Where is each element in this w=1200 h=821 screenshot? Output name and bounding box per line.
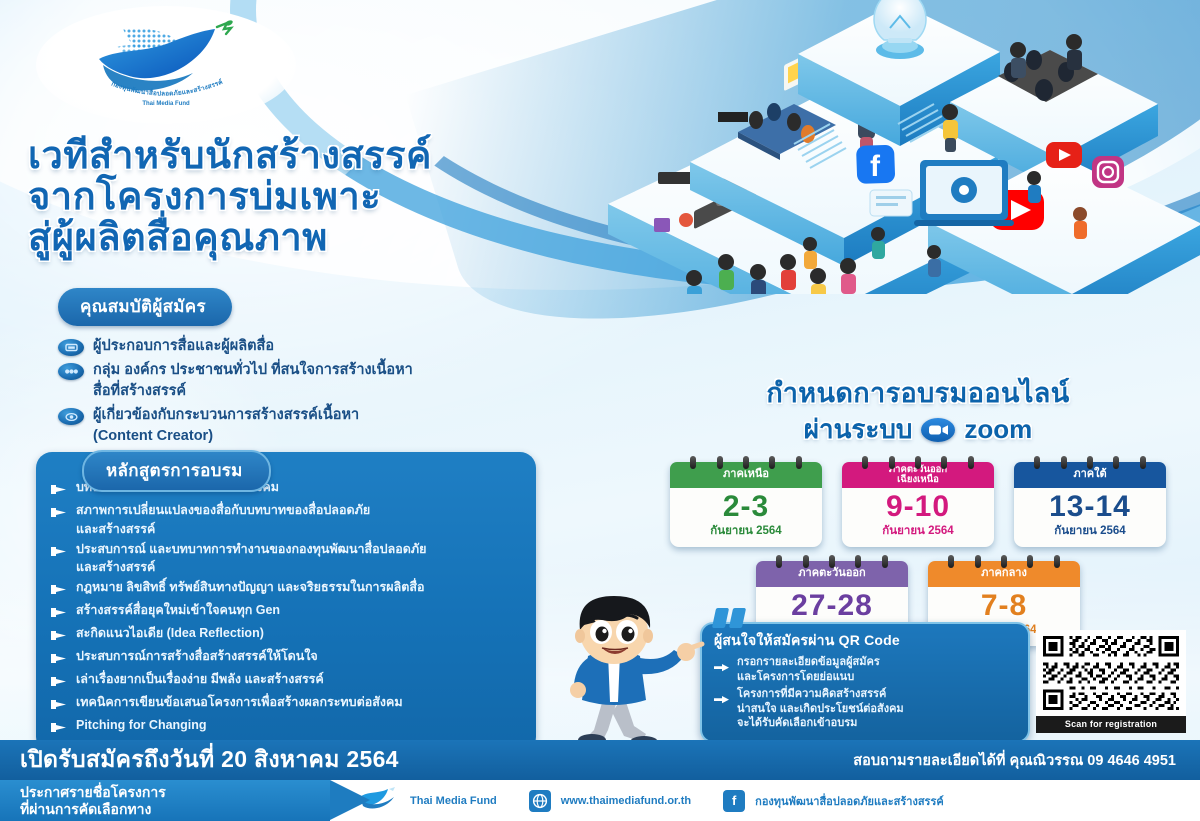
curriculum-text: เล่าเรื่องยากเป็นเรื่องง่าย มีพลัง และสร… — [76, 670, 324, 689]
list-item: สร้างสรรค์สื่อยุคใหม่เข้าใจคนทุก Gen — [50, 601, 522, 623]
creator-badge-icon — [58, 408, 84, 425]
arrow-bullet-icon — [50, 720, 67, 738]
arrow-bullet-icon — [50, 605, 67, 623]
curriculum-text: สะกิดแนวไอเดีย (Idea Reflection) — [76, 624, 264, 643]
list-item: สภาพการเปลี่ยนแปลงของสื่อกับบทบาทของสื่อ… — [50, 501, 522, 539]
page-title: เวทีสำหรับนักสร้างสรรค์ จากโครงการบ่มเพา… — [28, 136, 688, 259]
curriculum-text: สภาพการเปลี่ยนแปลงของสื่อกับบทบาทของสื่อ… — [76, 501, 370, 539]
headline-line-2: จากโครงการบ่มเพาะ — [28, 177, 688, 218]
list-item: สะกิดแนวไอเดีย (Idea Reflection) — [50, 624, 522, 646]
qr-code-block[interactable]: Scan for registration — [1036, 630, 1186, 733]
qr-item-text: กรอกรายละเอียดข้อมูลผู้สมัครและโครงการโด… — [737, 655, 880, 685]
arrow-bullet-icon — [50, 628, 67, 646]
curriculum-text: ประสบการณ์การสร้างสื่อสร้างสรรค์ให้โดนใจ — [76, 647, 318, 666]
zoom-camera-icon — [921, 418, 955, 442]
schedule-subtitle: ผ่านระบบ zoom — [648, 409, 1188, 450]
display-badge-icon — [58, 339, 84, 356]
calendar-rings — [670, 456, 822, 469]
website-link[interactable]: www.thaimediafund.or.th — [561, 795, 691, 807]
curriculum-text: สร้างสรรค์สื่อยุคใหม่เข้าใจคนทุก Gen — [76, 601, 280, 620]
calendar-days: 27-28 — [756, 589, 908, 622]
calendar-body: 9-10 กันยายน 2564 — [842, 488, 994, 547]
deadline-bar: เปิดรับสมัครถึงวันที่ 20 สิงหาคม 2564 สอ… — [0, 740, 1200, 780]
arrow-bullet-icon — [50, 582, 67, 600]
calendar-month: กันยายน 2564 — [670, 522, 822, 540]
qr-code-image[interactable] — [1036, 630, 1186, 716]
announcement-tag: ประกาศรายชื่อโครงการ ที่ผ่านการคัดเลือกท… — [0, 780, 330, 821]
arrow-bullet-icon — [50, 544, 67, 562]
arrow-bullet-icon — [50, 482, 67, 500]
calendar-days: 2-3 — [670, 490, 822, 523]
calendar-body: 13-14 กันยายน 2564 — [1014, 488, 1166, 547]
list-item: กฎหมาย ลิขสิทธิ์ ทรัพย์สินทางปัญญา และจร… — [50, 578, 522, 600]
curriculum-text: กฎหมาย ลิขสิทธิ์ ทรัพย์สินทางปัญญา และจร… — [76, 578, 425, 597]
poster-root: กองทุนพัฒนาสื่อปลอดภัยและสร้างสรรค์ Thai… — [0, 0, 1200, 821]
arrow-bullet-icon — [50, 697, 67, 715]
curriculum-text: ประสบการณ์ และบทบาทการทำงานของกองทุนพัฒน… — [76, 540, 426, 578]
curriculum-panel: บทบาทของสื่อและผลกระทบทางสังคม สภาพการเป… — [36, 452, 536, 753]
headline-line-1: เวทีสำหรับนักสร้างสรรค์ — [28, 136, 688, 177]
calendar-month: กันยายน 2564 — [842, 522, 994, 540]
qualification-text: กลุ่ม องค์กร ประชาชนทั่วไป ที่สนใจการสร้… — [93, 360, 413, 402]
brand-label: Thai Media Fund — [410, 795, 497, 807]
calendar-row-1: ภาคเหนือ 2-3 กันยายน 2564 ภาคตะวันออกเฉี… — [648, 462, 1188, 547]
list-item: เล่าเรื่องยากเป็นเรื่องง่าย มีพลัง และสร… — [50, 670, 522, 692]
announce-line-1: ประกาศรายชื่อโครงการ — [20, 784, 166, 800]
logo-org-english: Thai Media Fund — [142, 101, 190, 107]
qualifications-heading: คุณสมบัติผู้สมัคร — [58, 288, 232, 326]
group-badge-icon — [58, 363, 84, 380]
footer-links: Thai Media Fund www.thaimediafund.or.th … — [356, 785, 944, 816]
list-item: ประสบการณ์การสร้างสื่อสร้างสรรค์ให้โดนใจ — [50, 647, 522, 669]
qr-item-text: โครงการที่มีความคิดสร้างสรรค์ น่าสนใจ แล… — [737, 687, 904, 732]
curriculum-text: เทคนิคการเขียนข้อเสนอโครงการเพื่อสร้างผล… — [76, 693, 403, 712]
calendar-days: 13-14 — [1014, 490, 1166, 523]
qr-callout-box: ผู้สนใจให้สมัครผ่าน QR Code กรอกรายละเอี… — [700, 622, 1030, 743]
curriculum-section: หลักสูตรการอบรม บทบาทของสื่อและผลกระทบทา… — [36, 452, 536, 753]
arrow-bullet-icon — [50, 505, 67, 523]
calendar-rings — [756, 555, 908, 568]
list-item: เทคนิคการเขียนข้อเสนอโครงการเพื่อสร้างผล… — [50, 693, 522, 715]
list-item: กรอกรายละเอียดข้อมูลผู้สมัครและโครงการโด… — [714, 655, 1018, 685]
curriculum-text: Pitching for Changing — [76, 716, 207, 735]
announcement-footer: ประกาศรายชื่อโครงการ ที่ผ่านการคัดเลือกท… — [0, 780, 1200, 821]
qr-caption: Scan for registration — [1036, 716, 1186, 733]
curriculum-heading: หลักสูตรการอบรม — [82, 450, 271, 492]
schedule-title: กำหนดการอบรมออนไลน์ — [648, 378, 1188, 408]
calendar-days: 7-8 — [928, 589, 1080, 622]
mascot-boy — [512, 592, 732, 752]
svg-text:f: f — [870, 150, 881, 183]
arrow-bullet-icon — [50, 674, 67, 692]
list-item: กลุ่ม องค์กร ประชาชนทั่วไป ที่สนใจการสร้… — [58, 360, 638, 402]
logo-badge: กองทุนพัฒนาสื่อปลอดภัยและสร้างสรรค์ Thai… — [36, 6, 296, 124]
headline-line-3: สู่ผู้ผลิตสื่อคุณภาพ — [28, 218, 688, 259]
calendar-rings — [842, 456, 994, 469]
isometric-illustration: f — [598, 0, 1200, 294]
qualifications-section: คุณสมบัติผู้สมัคร ผู้ประกอบการสื่อและผู้… — [58, 288, 638, 450]
globe-icon[interactable] — [529, 790, 551, 812]
calendar-body: 2-3 กันยายน 2564 — [670, 488, 822, 547]
qualification-text: ผู้เกี่ยวข้องกับกระบวนการสร้างสรรค์เนื้อ… — [93, 405, 359, 447]
calendar-rings — [928, 555, 1080, 568]
announce-line-2: ที่ผ่านการคัดเลือกทาง — [20, 801, 151, 817]
list-item: โครงการที่มีความคิดสร้างสรรค์ น่าสนใจ แล… — [714, 687, 1018, 732]
calendar-month: กันยายน 2564 — [1014, 522, 1166, 540]
qualifications-list: ผู้ประกอบการสื่อและผู้ผลิตสื่อ กลุ่ม องค… — [58, 336, 638, 447]
facebook-icon[interactable]: f — [723, 790, 745, 812]
list-item: ประสบการณ์ และบทบาทการทำงานของกองทุนพัฒน… — [50, 540, 522, 578]
schedule-platform-name: zoom — [964, 414, 1032, 445]
schedule-platform-prefix: ผ่านระบบ — [804, 409, 913, 450]
dove-logo-icon: กองทุนพัฒนาสื่อปลอดภัยและสร้างสรรค์ Thai… — [77, 19, 255, 111]
qr-callout-title: ผู้สนใจให้สมัครผ่าน QR Code — [714, 630, 1018, 652]
deadline-text: เปิดรับสมัครถึงวันที่ 20 สิงหาคม 2564 — [0, 742, 399, 778]
calendar-days: 9-10 — [842, 490, 994, 523]
list-item: ผู้ประกอบการสื่อและผู้ผลิตสื่อ — [58, 336, 638, 357]
facebook-page-label[interactable]: กองทุนพัฒนาสื่อปลอดภัยและสร้างสรรค์ — [755, 792, 944, 810]
calendar-card: ภาคตะวันออกเฉียงเหนือ 9-10 กันยายน 2564 — [842, 462, 994, 547]
list-item: Pitching for Changing — [50, 716, 522, 738]
arrow-bullet-icon — [50, 651, 67, 669]
contact-text: สอบถามรายละเอียดได้ที่ คุณณิวรรณ 09 4646… — [853, 749, 1200, 772]
calendar-rings — [1014, 456, 1166, 469]
list-item: ผู้เกี่ยวข้องกับกระบวนการสร้างสรรค์เนื้อ… — [58, 405, 638, 447]
qualification-text: ผู้ประกอบการสื่อและผู้ผลิตสื่อ — [93, 336, 274, 357]
calendar-card: ภาคใต้ 13-14 กันยายน 2564 — [1014, 462, 1166, 547]
lightbulb-icon — [874, 0, 926, 59]
calendar-card: ภาคเหนือ 2-3 กันยายน 2564 — [670, 462, 822, 547]
